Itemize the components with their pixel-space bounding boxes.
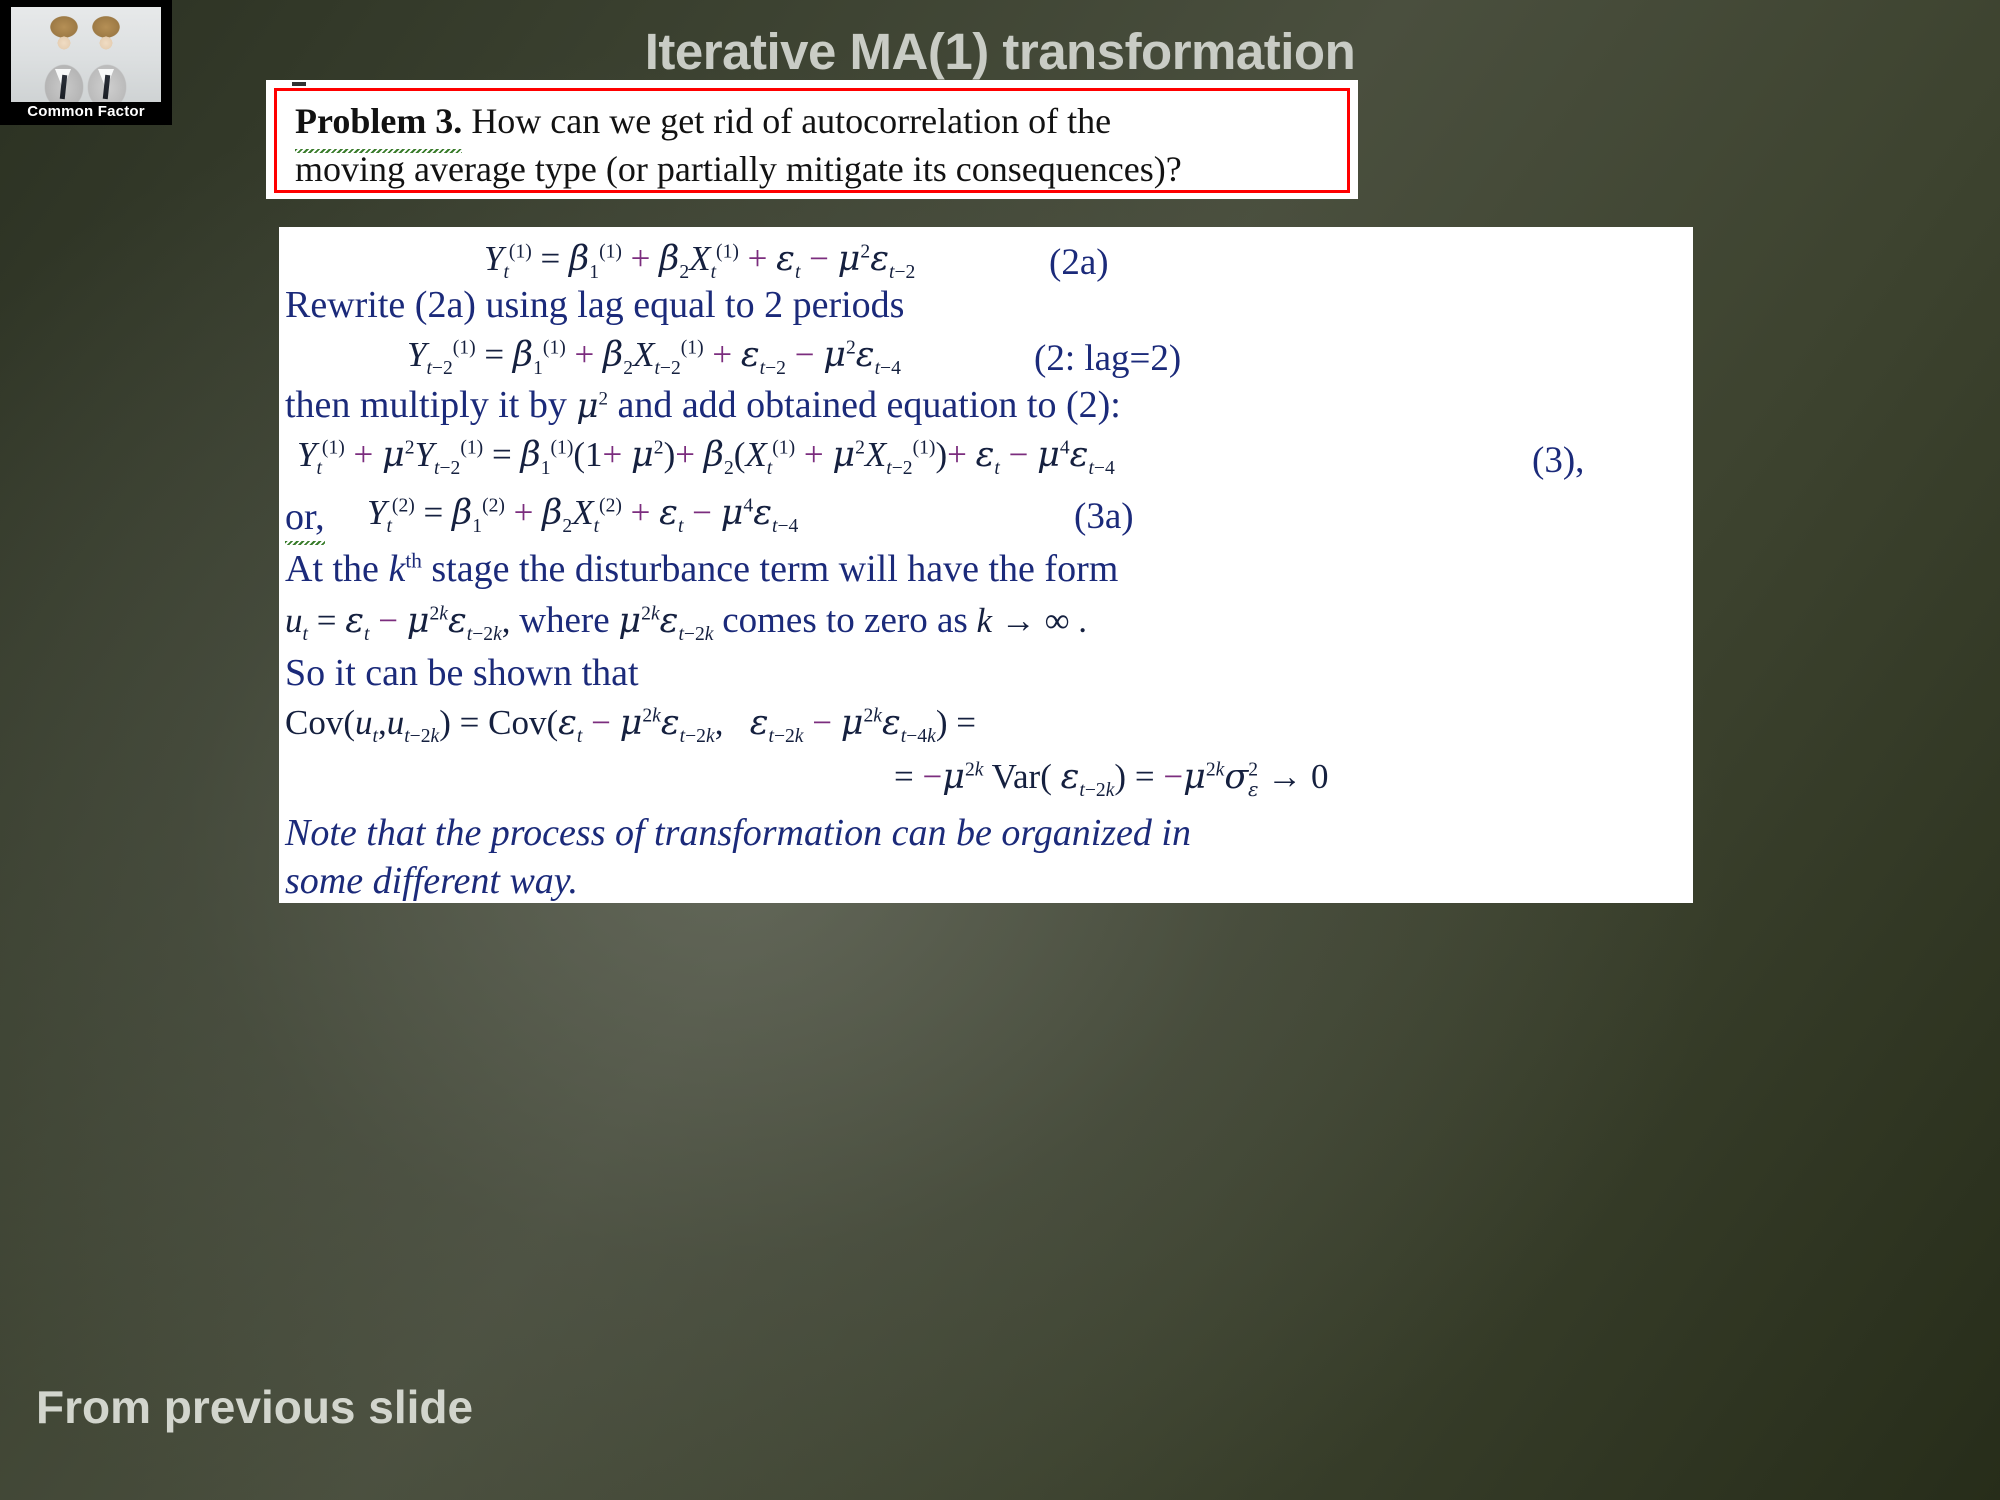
- text-multiply: then multiply it by μ2 and add obtained …: [285, 383, 1121, 427]
- problem-red-border: Problem 3. How can we get rid of autocor…: [274, 88, 1350, 193]
- equation-label-2a: (2a): [1049, 241, 1109, 284]
- text-kth-stage: At the kth stage the disturbance term wi…: [285, 547, 1118, 591]
- equation-2-lag2: Yt−2(1) = β1(1) + β2Xt−2(1) + εt−2 − μ2ε…: [407, 335, 901, 375]
- equation-3: Yt(1) + μ2Yt−2(1) = β1(1)(1+ μ2)+ β2(Xt(…: [297, 435, 1115, 475]
- thumbnail-caption: Common Factor: [0, 103, 172, 120]
- box-tick-mark: [292, 82, 306, 86]
- equations-body: Yt(1) = β1(1) + β2Xt(1) + εt − μ2εt−2 (2…: [279, 227, 1693, 903]
- page-title: Iterative MA(1) transformation: [230, 22, 1770, 81]
- problem-line1: How can we get rid of autocorrelation of…: [471, 101, 1111, 141]
- photo-detail: [11, 7, 161, 102]
- equations-box: Yt(1) = β1(1) + β2Xt(1) + εt − μ2εt−2 (2…: [279, 227, 1693, 903]
- text-kth-post: stage the disturbance term will have the…: [422, 548, 1118, 590]
- text-shown: So it can be shown that: [285, 651, 639, 695]
- text-comes: comes to zero as: [722, 600, 968, 641]
- thumbnail-image: Common Factor: [0, 0, 172, 125]
- text-or-label: or,: [285, 495, 325, 539]
- equation-label-3: (3),: [1532, 439, 1584, 482]
- text-kth-k: k: [388, 548, 405, 590]
- text-rewrite: Rewrite (2a) using lag equal to 2 period…: [285, 283, 904, 327]
- note-line-2: some different way.: [285, 859, 578, 903]
- equation-ut: ut = εt − μ2kεt−2k, where μ2kεt−2k comes…: [285, 599, 1087, 642]
- equation-label-2lag2: (2: lag=2): [1034, 337, 1181, 380]
- slide-canvas: Common Factor Iterative MA(1) transforma…: [0, 0, 2000, 1500]
- equation-cov: Cov(ut,ut−2k) = Cov(εt − μ2kεt−2k, εt−2k…: [285, 703, 976, 743]
- footer-note: From previous slide: [36, 1380, 473, 1434]
- equation-3a: Yt(2) = β1(2) + β2Xt(2) + εt − μ4εt−4: [367, 493, 798, 533]
- text-or: or,: [285, 495, 325, 539]
- text-kth-sup: th: [405, 548, 422, 572]
- problem-text: Problem 3. How can we get rid of autocor…: [295, 98, 1333, 194]
- problem-statement-box: Problem 3. How can we get rid of autocor…: [266, 80, 1358, 199]
- equation-label-3a: (3a): [1074, 495, 1134, 538]
- equation-2a: Yt(1) = β1(1) + β2Xt(1) + εt − μ2εt−2: [484, 239, 915, 279]
- problem-label: Problem 3.: [295, 98, 462, 146]
- text-multiply-post: and add obtained equation to (2):: [617, 384, 1120, 426]
- note-line-1: Note that the process of transformation …: [285, 811, 1191, 855]
- text-kth-pre: At the: [285, 548, 388, 590]
- text-multiply-pre: then multiply it by: [285, 384, 567, 426]
- equation-var: = −μ2k Var( εt−2k) = −μ2kσ2ε → 0: [894, 757, 1329, 797]
- problem-line2: moving average type (or partially mitiga…: [295, 149, 1182, 189]
- text-where: where: [519, 600, 609, 641]
